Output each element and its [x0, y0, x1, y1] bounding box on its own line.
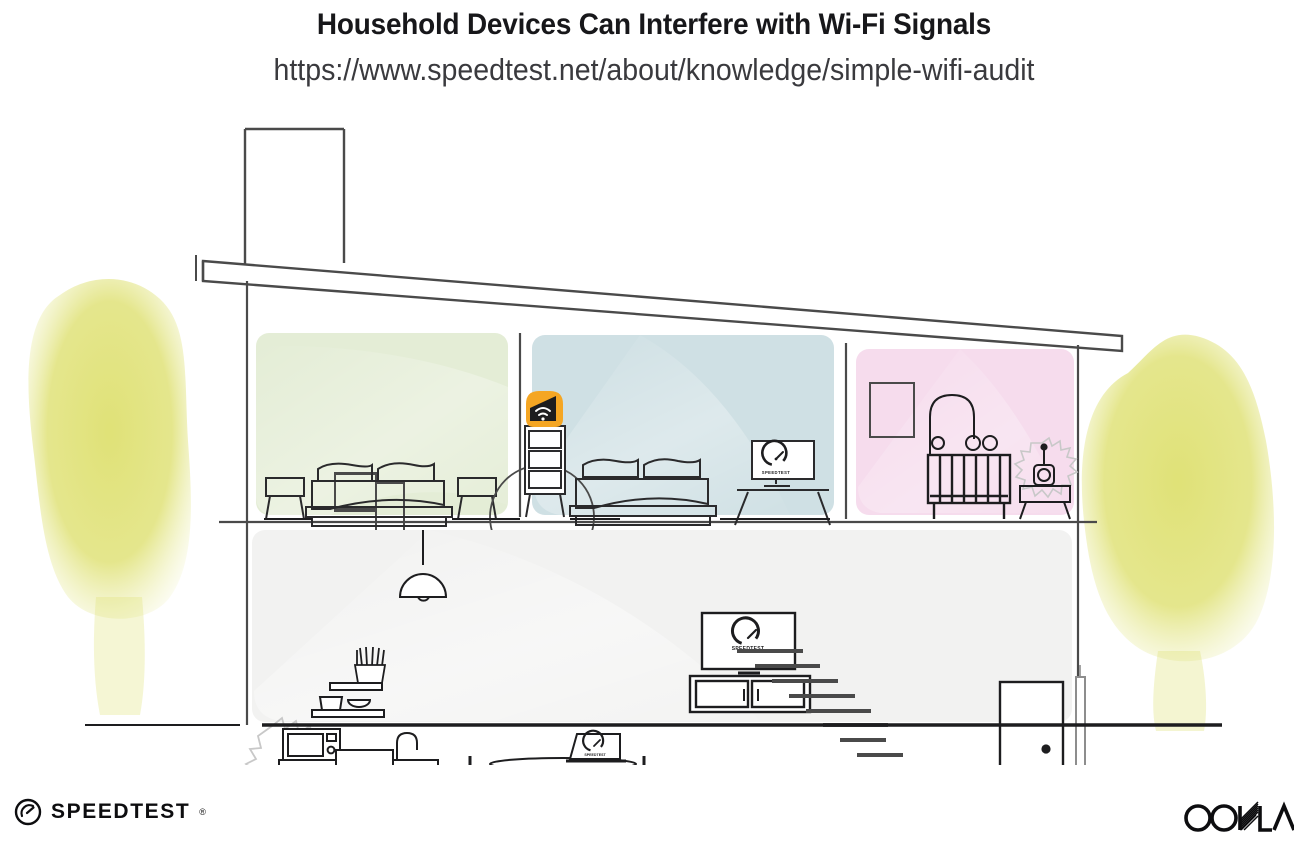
monitor-screen-label: SPEEDTEST: [762, 470, 791, 475]
tree-left: [28, 279, 190, 715]
page-url: https://www.speedtest.net/about/knowledg…: [52, 52, 1255, 88]
chimney: [245, 129, 344, 265]
house-cutaway-svg: SPEEDTEST: [0, 105, 1308, 765]
laptop-screen-label: SPEEDTEST: [584, 753, 606, 757]
room-bedroom-green: [256, 333, 508, 535]
room-nursery-pink: [846, 343, 1077, 519]
door-knob: [1041, 744, 1050, 753]
tree-right: [1082, 335, 1274, 731]
speedtest-logo: SPEEDTEST ®: [14, 798, 206, 826]
sidelight-window: [1076, 665, 1085, 765]
speedtest-registered-mark: ®: [199, 807, 206, 817]
sink-faucet: [397, 733, 417, 760]
poster-page: Household Devices Can Interfere with Wi-…: [0, 0, 1308, 861]
wifi-router[interactable]: [526, 391, 563, 427]
ookla-logo: [1182, 796, 1294, 843]
page-title: Household Devices Can Interfere with Wi-…: [46, 8, 1262, 42]
house-illustration: SPEEDTEST: [0, 105, 1308, 765]
speedometer-icon: [14, 798, 42, 826]
ookla-wordmark-icon: [1182, 796, 1294, 838]
footer: SPEEDTEST ®: [0, 780, 1308, 850]
speedtest-wordmark: SPEEDTEST: [51, 800, 190, 824]
room-ground-floor: [252, 530, 1072, 722]
microwave: [283, 729, 340, 761]
laptop: SPEEDTEST: [566, 728, 626, 761]
